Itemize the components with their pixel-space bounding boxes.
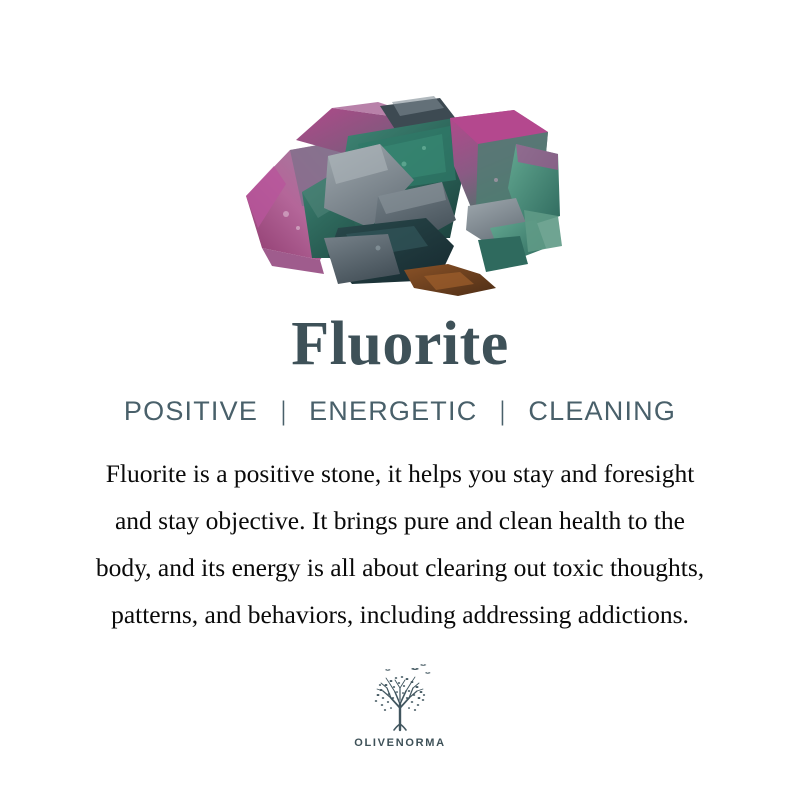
brand-wordmark: OLIVENORMA (354, 737, 446, 749)
description-line: body, and its energy is all about cleari… (0, 544, 800, 591)
keyword-separator: | (485, 396, 521, 427)
description-line: Fluorite is a positive stone, it helps y… (0, 450, 800, 497)
tree-of-life-icon (361, 660, 439, 734)
keyword-energetic: ENERGETIC (309, 396, 477, 427)
fluorite-crystal-illustration (228, 88, 568, 303)
description-line: and stay objective. It brings pure and c… (0, 497, 800, 544)
keyword-cleaning: CLEANING (528, 396, 676, 427)
hero-image-block (0, 0, 800, 310)
brand-logo: OLIVENORMA (0, 660, 800, 749)
description-line: patterns, and behaviors, including addre… (0, 591, 800, 638)
keyword-strip: POSITIVE | ENERGETIC | CLEANING (0, 394, 800, 428)
keyword-separator: | (266, 396, 302, 427)
fluorite-crystal-image (228, 88, 568, 303)
description-paragraph: Fluorite is a positive stone, it helps y… (0, 450, 800, 638)
page-title: Fluorite (0, 310, 800, 378)
fluorite-info-card: Fluorite POSITIVE | ENERGETIC | CLEANING… (0, 0, 800, 800)
keyword-positive: POSITIVE (124, 396, 258, 427)
